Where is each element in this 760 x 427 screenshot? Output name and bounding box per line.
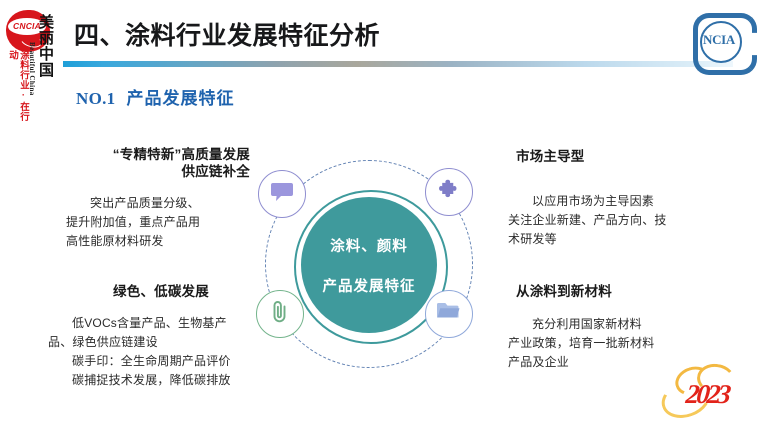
speech-bubble-icon (270, 181, 294, 208)
core-line-2: 产品发展特征 (323, 275, 416, 296)
body-line-3: 高性能原材料研发 (66, 232, 256, 251)
slide-canvas: CNCIA 美丽中国 Beautiful China 涂料行业·在行动 四、涂料… (0, 0, 760, 427)
heading-line-1: 市场主导型 (516, 148, 716, 165)
heading-line-1: 绿色、低碳发展 (66, 283, 256, 300)
block-top-left-heading: “专精特新”高质量发展 供应链补全 (75, 146, 250, 180)
body-line-2: 关注企业新建、产品方向、技 (508, 211, 713, 230)
body-line-1: 充分利用国家新材料 (508, 315, 713, 334)
puzzle-piece-icon (437, 178, 461, 207)
block-bottom-left-heading: 绿色、低碳发展 (66, 283, 256, 300)
heading-line-1: 从涂料到新材料 (516, 283, 716, 300)
body-line-2: 产业政策，培育一批新材料 (508, 334, 713, 353)
ncia-label: NCIA (700, 21, 738, 59)
body-text: 低VOCs含量产品、生物基产 品、绿色供应链建设 碳手印：全生命周期产品评价 碳… (48, 314, 263, 390)
body-line-4: 碳捕捉技术发展，降低碳排放 (48, 371, 263, 390)
block-bottom-right-heading: 从涂料到新材料 (516, 283, 716, 300)
block-bottom-left-body: 低VOCs含量产品、生物基产 品、绿色供应链建设 碳手印：全生命周期产品评价 碳… (48, 309, 263, 390)
heading-line-2: 供应链补全 (75, 163, 250, 180)
page-title: 四、涂料行业发展特征分析 (74, 16, 380, 52)
heading-line-1: “专精特新”高质量发展 (75, 146, 250, 163)
diagram-node-paperclip[interactable] (256, 290, 304, 338)
central-diagram: 涂料、颜料 产品发展特征 (249, 157, 511, 369)
body-line-3: 碳手印：全生命周期产品评价 (48, 352, 263, 371)
paperclip-icon (269, 299, 291, 330)
block-top-right-heading: 市场主导型 (516, 148, 716, 165)
section-number: NO.1 (76, 89, 115, 108)
ncia-logo: NCIA (689, 11, 751, 69)
body-line-2: 提升附加值，重点产品用 (66, 213, 256, 232)
core-line-1: 涂料、颜料 (330, 235, 408, 256)
diagram-node-puzzle-piece[interactable] (425, 168, 473, 216)
body-text: 突出产品质量分级、 提升附加值，重点产品用 高性能原材料研发 (66, 194, 256, 251)
body-text: 以应用市场为主导因素 关注企业新建、产品方向、技 术研发等 (508, 192, 713, 249)
brand-english-name: Beautiful China (28, 42, 36, 96)
body-line-3: 术研发等 (508, 230, 713, 249)
diagram-node-folder[interactable] (425, 290, 473, 338)
brand-logo-beautiful-china: CNCIA 美丽中国 Beautiful China 涂料行业·在行动 (4, 6, 66, 126)
core-circle: 涂料、颜料 产品发展特征 (301, 197, 437, 333)
body-line-1: 低VOCs含量产品、生物基产 (48, 314, 263, 333)
folder-icon (436, 301, 462, 327)
brand-chinese-name: 美丽中国 (34, 14, 54, 78)
body-line-1: 突出产品质量分级、 (66, 194, 256, 213)
header-divider (63, 61, 733, 67)
block-top-right-body: 以应用市场为主导因素 关注企业新建、产品方向、技 术研发等 (508, 187, 713, 249)
section-subtitle: NO.1产品发展特征 (76, 84, 234, 109)
body-line-1: 以应用市场为主导因素 (508, 192, 713, 211)
year-2023-mark: 2023 (655, 363, 755, 423)
block-top-left-body: 突出产品质量分级、 提升附加值，重点产品用 高性能原材料研发 (66, 189, 256, 251)
diagram-node-speech-bubble[interactable] (258, 170, 306, 218)
year-label: 2023 (661, 379, 752, 410)
body-line-2: 品、绿色供应链建设 (48, 333, 263, 352)
brand-tagline: 涂料行业·在行动 (16, 50, 29, 126)
section-name: 产品发展特征 (126, 89, 234, 108)
